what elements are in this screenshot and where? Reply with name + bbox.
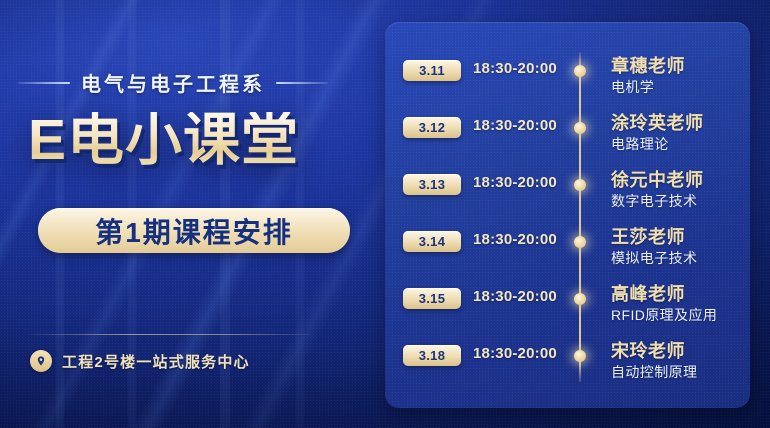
heading-rule-right-icon (276, 82, 328, 84)
location-text: 工程2号楼一站式服务中心 (62, 351, 250, 372)
timeline-dot-icon (574, 65, 586, 77)
course-name: 模拟电子技术 (611, 249, 749, 268)
session-time: 18:30-20:00 (473, 60, 557, 77)
date-badge-label: 3.15 (419, 291, 446, 306)
timeline-dot-icon (574, 236, 586, 248)
course-name: RFID原理及应用 (611, 306, 749, 325)
session-presenter: 王莎老师模拟电子技术 (611, 225, 749, 268)
schedule-row[interactable]: 3.1518:30-20:00高峰老师RFID原理及应用 (385, 286, 750, 343)
schedule-row[interactable]: 3.1118:30-20:00章穗老师电机学 (385, 58, 750, 115)
session-badge: 第1期课程安排 (38, 208, 350, 253)
session-time: 18:30-20:00 (473, 174, 557, 191)
date-badge-label: 3.14 (419, 234, 446, 249)
course-schedule-poster: 电气与电子工程系 E电小课堂 第1期课程安排 工程2号楼一站式服务中心 3.11… (0, 0, 770, 428)
schedule-row[interactable]: 3.1218:30-20:00涂玲英老师电路理论 (385, 115, 750, 172)
schedule-row[interactable]: 3.1818:30-20:00宋玲老师自动控制原理 (385, 343, 750, 400)
teacher-name: 王莎老师 (611, 225, 749, 249)
date-badge-label: 3.13 (419, 177, 446, 192)
department-heading-row: 电气与电子工程系 (18, 68, 368, 97)
schedule-row[interactable]: 3.1418:30-20:00王莎老师模拟电子技术 (385, 229, 750, 286)
footer-divider (30, 334, 310, 335)
schedule-row[interactable]: 3.1318:30-20:00徐元中老师数字电子技术 (385, 172, 750, 229)
session-time: 18:30-20:00 (473, 288, 557, 305)
heading-rule-left-icon (18, 82, 70, 84)
date-badge: 3.14 (403, 231, 461, 252)
date-badge: 3.13 (403, 174, 461, 195)
teacher-name: 章穗老师 (611, 54, 749, 78)
location-pin-icon (30, 350, 52, 372)
date-badge-label: 3.12 (419, 120, 446, 135)
session-badge-label: 第1期课程安排 (95, 211, 293, 251)
teacher-name: 宋玲老师 (611, 339, 749, 363)
date-badge: 3.15 (403, 288, 461, 309)
session-time: 18:30-20:00 (473, 117, 557, 134)
teacher-name: 高峰老师 (611, 282, 749, 306)
course-name: 电机学 (611, 78, 749, 97)
date-badge-label: 3.18 (419, 348, 446, 363)
session-presenter: 涂玲英老师电路理论 (611, 111, 749, 154)
timeline-dot-icon (574, 122, 586, 134)
session-time: 18:30-20:00 (473, 231, 557, 248)
department-name: 电气与电子工程系 (81, 68, 265, 97)
date-badge: 3.12 (403, 117, 461, 138)
course-name: 数字电子技术 (611, 192, 749, 211)
course-name: 自动控制原理 (611, 363, 749, 382)
session-presenter: 章穗老师电机学 (611, 54, 749, 97)
teacher-name: 涂玲英老师 (611, 111, 749, 135)
session-presenter: 高峰老师RFID原理及应用 (611, 282, 749, 325)
poster-title: E电小课堂 (28, 112, 368, 169)
schedule-list: 3.1118:30-20:00章穗老师电机学3.1218:30-20:00涂玲英… (385, 22, 750, 408)
session-time: 18:30-20:00 (473, 345, 557, 362)
teacher-name: 徐元中老师 (611, 168, 749, 192)
date-badge: 3.11 (403, 60, 461, 81)
schedule-panel: 3.1118:30-20:00章穗老师电机学3.1218:30-20:00涂玲英… (385, 22, 750, 408)
timeline-dot-icon (574, 293, 586, 305)
session-presenter: 徐元中老师数字电子技术 (611, 168, 749, 211)
date-badge: 3.18 (403, 345, 461, 366)
poster-left-column: 电气与电子工程系 E电小课堂 第1期课程安排 工程2号楼一站式服务中心 (0, 0, 385, 428)
course-name: 电路理论 (611, 135, 749, 154)
location-row: 工程2号楼一站式服务中心 (30, 350, 250, 372)
date-badge-label: 3.11 (419, 63, 445, 78)
session-presenter: 宋玲老师自动控制原理 (611, 339, 749, 382)
timeline-dot-icon (574, 350, 586, 362)
timeline-dot-icon (574, 179, 586, 191)
